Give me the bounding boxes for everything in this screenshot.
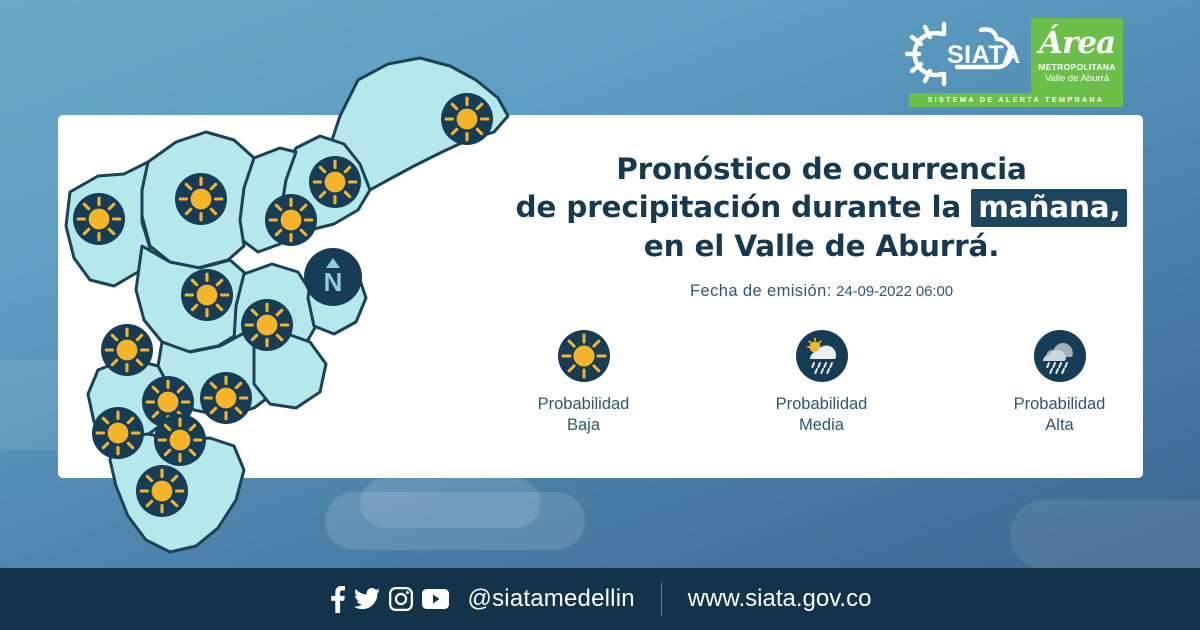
footer-bar: @siatamedellin www.siata.gov.co [0,568,1200,630]
page-title: Pronóstico de ocurrencia de precipitació… [500,150,1143,265]
area-line1: METROPOLITANA [1031,62,1123,72]
sun-icon [158,392,179,413]
title-line-3: en el Valle de Aburrá. [500,227,1143,265]
area-script-text: Área [1031,18,1123,59]
social-icons [329,586,449,613]
background-cloud-right [1010,500,1200,570]
map-marker-la-estrella[interactable] [154,414,206,466]
sun-icon [216,388,237,409]
facebook-icon[interactable] [329,586,345,613]
title-line-2: de precipitación durante la mañana, [500,188,1143,226]
tagline-bar: SISTEMA DE ALERTA TEMPRANA [909,93,1123,107]
sun-icon [257,315,278,336]
social-handle[interactable]: @siatamedellin [468,585,635,613]
legend-label: Probabilidad Media [747,394,897,436]
sun-icon [558,330,610,382]
legend-label: Probabilidad Baja [509,394,659,436]
footer-divider [661,582,662,616]
legend-label-line1: Probabilidad [1014,395,1106,413]
map-marker-caldas[interactable] [136,465,188,517]
map-marker-san-pedro[interactable] [175,173,227,225]
sun-cloud-rain-icon-wrapper [796,330,848,382]
sun-icon [457,109,478,130]
area-metropolitana-logo: Área METROPOLITANA Valle de Aburrá [1031,18,1123,94]
instagram-icon[interactable] [389,587,413,611]
area-line2: Valle de Aburrá [1031,73,1123,84]
cloud-rain-icon [1034,330,1086,382]
map-marker-barbosa[interactable] [441,93,493,145]
map-marker-bello-norte[interactable] [73,193,125,245]
sun-icon [325,172,346,193]
sun-icon [89,209,110,230]
legend-label-line2: Media [799,416,844,434]
sun-icon [197,285,218,306]
legend-label-line2: Baja [567,416,600,434]
map-marker-girardota[interactable] [309,156,361,208]
map-marker-medellin-norte[interactable] [241,299,293,351]
legend-label-line1: Probabilidad [538,395,630,413]
cloud-rain-icon-wrapper [1034,330,1086,382]
title-line-2-text: de precipitación durante la [516,190,962,224]
siata-wordmark: SIATA [947,41,1021,69]
compass-label: N [324,267,343,297]
map-marker-copacabana[interactable] [265,194,317,246]
youtube-icon[interactable] [422,589,449,609]
forecast-text-panel: Pronóstico de ocurrencia de precipitació… [500,150,1143,301]
siata-logo: SIATA [895,18,1025,90]
legend-item-baja: Probabilidad Baja [509,330,659,436]
title-line-1: Pronóstico de ocurrencia [500,150,1143,188]
sun-icon [191,189,212,210]
legend-item-alta: Probabilidad Alta [985,330,1135,436]
emission-date-label: Fecha de emisión: [690,282,832,300]
sun-icon [281,210,302,231]
map-marker-medellin[interactable] [101,324,153,376]
sun-cloud-rain-icon [796,330,848,382]
map-marker-sabaneta[interactable] [92,407,144,459]
map-marker-bello[interactable] [181,269,233,321]
legend-label-line2: Alta [1045,416,1073,434]
valle-de-aburra-map: N [58,40,508,570]
sun-icon [108,423,129,444]
sun-icon-wrapper [558,330,610,382]
legend-label: Probabilidad Alta [985,394,1135,436]
map-svg: N [58,40,508,570]
sun-icon [170,430,191,451]
highlight-periodo: mañana, [971,189,1127,227]
sun-icon [117,340,138,361]
map-marker-envigado[interactable] [200,372,252,424]
compass-north-badge: N [304,248,362,306]
emission-date: Fecha de emisión: 24-09-2022 06:00 [500,282,1143,301]
sun-disc [573,346,594,367]
infographic-canvas: SIATA Área METROPOLITANA Valle de Aburrá… [0,0,1200,630]
twitter-icon[interactable] [354,588,380,611]
probability-legend: Probabilidad Baja Probabilidad Media [500,330,1143,436]
sun-icon [152,481,173,502]
emission-date-value: 24-09-2022 06:00 [836,283,953,300]
website-url[interactable]: www.siata.gov.co [688,585,872,613]
legend-item-media: Probabilidad Media [747,330,897,436]
legend-label-line1: Probabilidad [776,395,868,413]
